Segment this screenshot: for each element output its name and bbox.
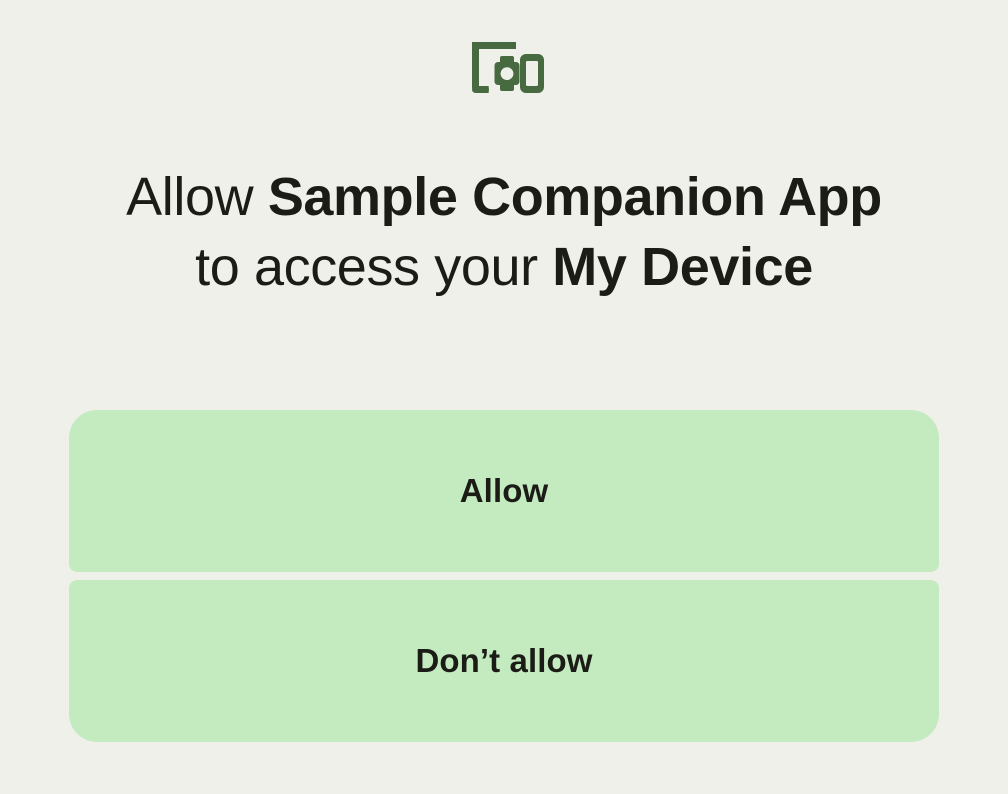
dialog-title-line-1: Allow Sample Companion App <box>44 162 964 232</box>
dialog-title-app-name: Sample Companion App <box>268 167 882 227</box>
allow-button[interactable]: Allow <box>69 410 939 572</box>
companion-device-permission-dialog: Allow Sample Companion App to access you… <box>0 0 1008 794</box>
devices-icon <box>460 34 548 102</box>
dialog-title-line-2: to access your My Device <box>44 232 964 302</box>
dialog-title-access-prefix: to access your <box>195 237 552 297</box>
dialog-title-device-name: My Device <box>552 237 813 297</box>
dialog-title-prefix: Allow <box>126 167 268 227</box>
dialog-title: Allow Sample Companion App to access you… <box>34 162 974 302</box>
dialog-button-stack: Allow Don’t allow <box>69 410 939 742</box>
dont-allow-button[interactable]: Don’t allow <box>69 580 939 742</box>
